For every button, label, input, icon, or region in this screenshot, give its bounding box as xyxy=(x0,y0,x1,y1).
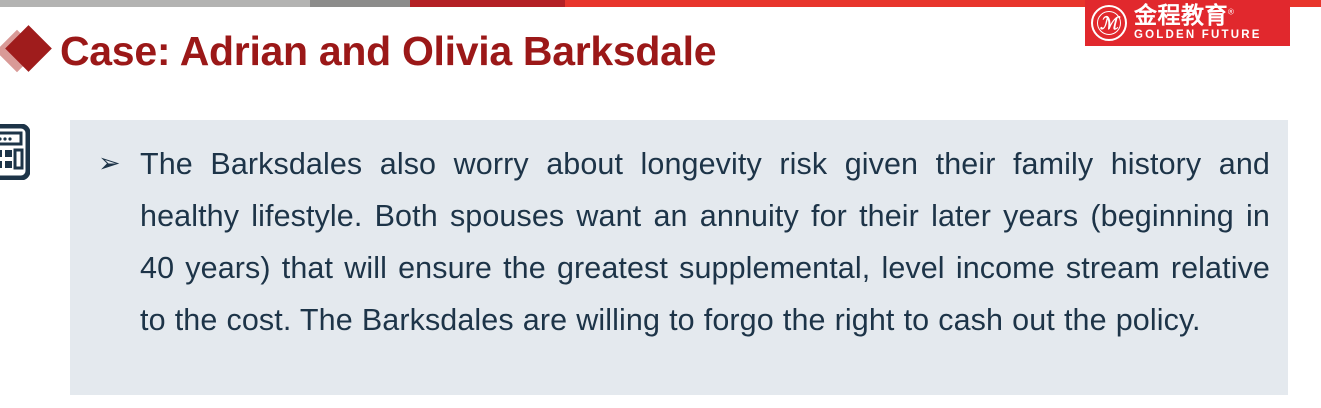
arrow-bullet-icon: ➢ xyxy=(98,138,140,190)
logo-seal-monogram: ℳ xyxy=(1100,15,1118,32)
page-title: Case: Adrian and Olivia Barksdale xyxy=(60,31,716,72)
topbar-segment-dark-gray xyxy=(310,0,410,7)
topbar-segment-dark-red xyxy=(410,0,565,7)
logo-seal-icon: ℳ xyxy=(1091,5,1127,41)
logo-chinese-name: 金程教育® xyxy=(1134,4,1262,27)
bullet-list-item: ➢ The Barksdales also worry about longev… xyxy=(98,138,1270,346)
content-panel: ➢ The Barksdales also worry about longev… xyxy=(70,120,1288,395)
registered-trademark-icon: ® xyxy=(1228,8,1234,17)
logo-chinese-label: 金程教育 xyxy=(1134,2,1228,28)
topbar-segment-light-gray xyxy=(0,0,310,7)
calculator-icon xyxy=(0,124,30,180)
logo-english-name: GOLDEN FUTURE xyxy=(1134,29,1262,42)
brand-logo: ℳ 金程教育® GOLDEN FUTURE xyxy=(1085,0,1290,46)
diamond-bullet-icon xyxy=(0,22,62,80)
logo-text-group: 金程教育® GOLDEN FUTURE xyxy=(1134,4,1262,41)
case-body-text: The Barksdales also worry about longevit… xyxy=(140,138,1270,346)
page-title-row: Case: Adrian and Olivia Barksdale xyxy=(0,18,716,84)
